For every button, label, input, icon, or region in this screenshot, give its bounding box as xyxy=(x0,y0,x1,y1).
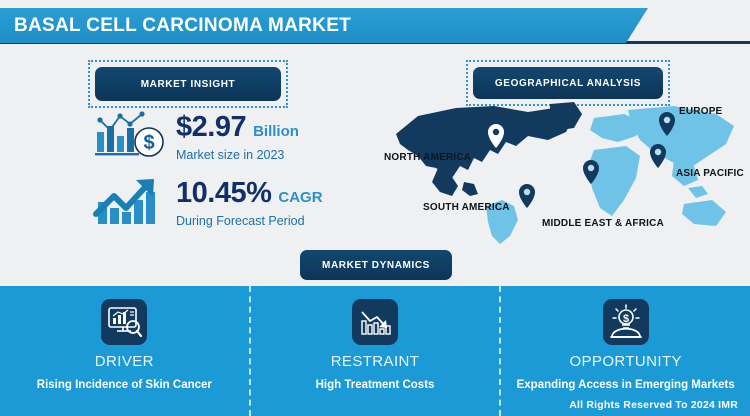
dynamics-column-opportunity: $ OPPORTUNITY Expanding Access in Emergi… xyxy=(499,286,750,416)
market-insight-section-header: MARKET INSIGHT xyxy=(88,60,288,108)
market-insight-label: MARKET INSIGHT xyxy=(141,79,236,90)
map-label-middle-east-africa: MIDDLE EAST & AFRICA xyxy=(542,218,664,229)
map-label-south-america: SOUTH AMERICA xyxy=(423,202,510,213)
geographical-analysis-label: GEOGRAPHICAL ANALYSIS xyxy=(495,78,641,89)
geographical-analysis-pill: GEOGRAPHICAL ANALYSIS xyxy=(473,67,663,99)
market-size-caption: Market size in 2023 xyxy=(176,148,299,162)
growth-arrow-icon xyxy=(92,174,170,232)
stat-cagr: 10.45% CAGR During Forecast Period xyxy=(92,174,323,232)
market-dynamics-label: MARKET DYNAMICS xyxy=(322,260,430,271)
cagr-caption: During Forecast Period xyxy=(176,214,323,228)
stat-market-size: $ $2.97 Billion Market size in 2023 xyxy=(92,108,299,166)
declining-chart-icon xyxy=(352,299,398,345)
lightbulb-dollar-icon: $ xyxy=(603,299,649,345)
cagr-value: 10.45% xyxy=(176,179,271,208)
copyright-note: All Rights Reserved To 2024 IMR xyxy=(569,399,738,411)
opportunity-title: OPPORTUNITY xyxy=(569,353,681,370)
svg-text:$: $ xyxy=(143,132,154,154)
map-label-asia-pacific: ASIA PACIFIC xyxy=(676,168,744,179)
stat-market-size-text: $2.97 Billion Market size in 2023 xyxy=(176,113,299,162)
driver-description: Rising Incidence of Skin Cancer xyxy=(37,379,212,391)
restraint-description: High Treatment Costs xyxy=(316,379,435,391)
stat-cagr-text: 10.45% CAGR During Forecast Period xyxy=(176,179,323,228)
market-dynamics-section-header: MARKET DYNAMICS xyxy=(300,250,452,280)
market-dynamics-bar: DRIVER Rising Incidence of Skin Cancer R… xyxy=(0,286,750,416)
infographic-page: BASAL CELL CARCINOMA MARKET MARKET INSIG… xyxy=(0,0,750,416)
map-pin-south-america xyxy=(519,184,535,208)
restraint-title: RESTRAINT xyxy=(331,353,420,370)
map-label-north-america: NORTH AMERICA xyxy=(384,152,471,163)
cagr-unit: CAGR xyxy=(278,189,322,206)
dynamics-column-driver: DRIVER Rising Incidence of Skin Cancer xyxy=(0,286,249,416)
dynamics-column-restraint: RESTRAINT High Treatment Costs xyxy=(249,286,500,416)
header-banner: BASAL CELL CARCINOMA MARKET xyxy=(0,8,648,43)
market-size-unit: Billion xyxy=(253,123,299,140)
market-dynamics-pill: MARKET DYNAMICS xyxy=(300,250,452,280)
market-size-value: $2.97 xyxy=(176,113,246,142)
stat-cagr-headline: 10.45% CAGR xyxy=(176,179,323,208)
page-title: BASAL CELL CARCINOMA MARKET xyxy=(0,15,351,37)
market-insight-pill: MARKET INSIGHT xyxy=(95,67,281,101)
map-label-europe: EUROPE xyxy=(679,106,722,117)
monitor-analysis-icon xyxy=(101,299,147,345)
driver-title: DRIVER xyxy=(95,353,154,370)
bar-chart-dollar-icon: $ xyxy=(92,108,170,166)
map-pin-asia-pacific xyxy=(650,144,666,168)
stat-market-size-headline: $2.97 Billion xyxy=(176,113,299,142)
svg-text:$: $ xyxy=(623,313,629,325)
opportunity-description: Expanding Access in Emerging Markets xyxy=(517,379,735,391)
